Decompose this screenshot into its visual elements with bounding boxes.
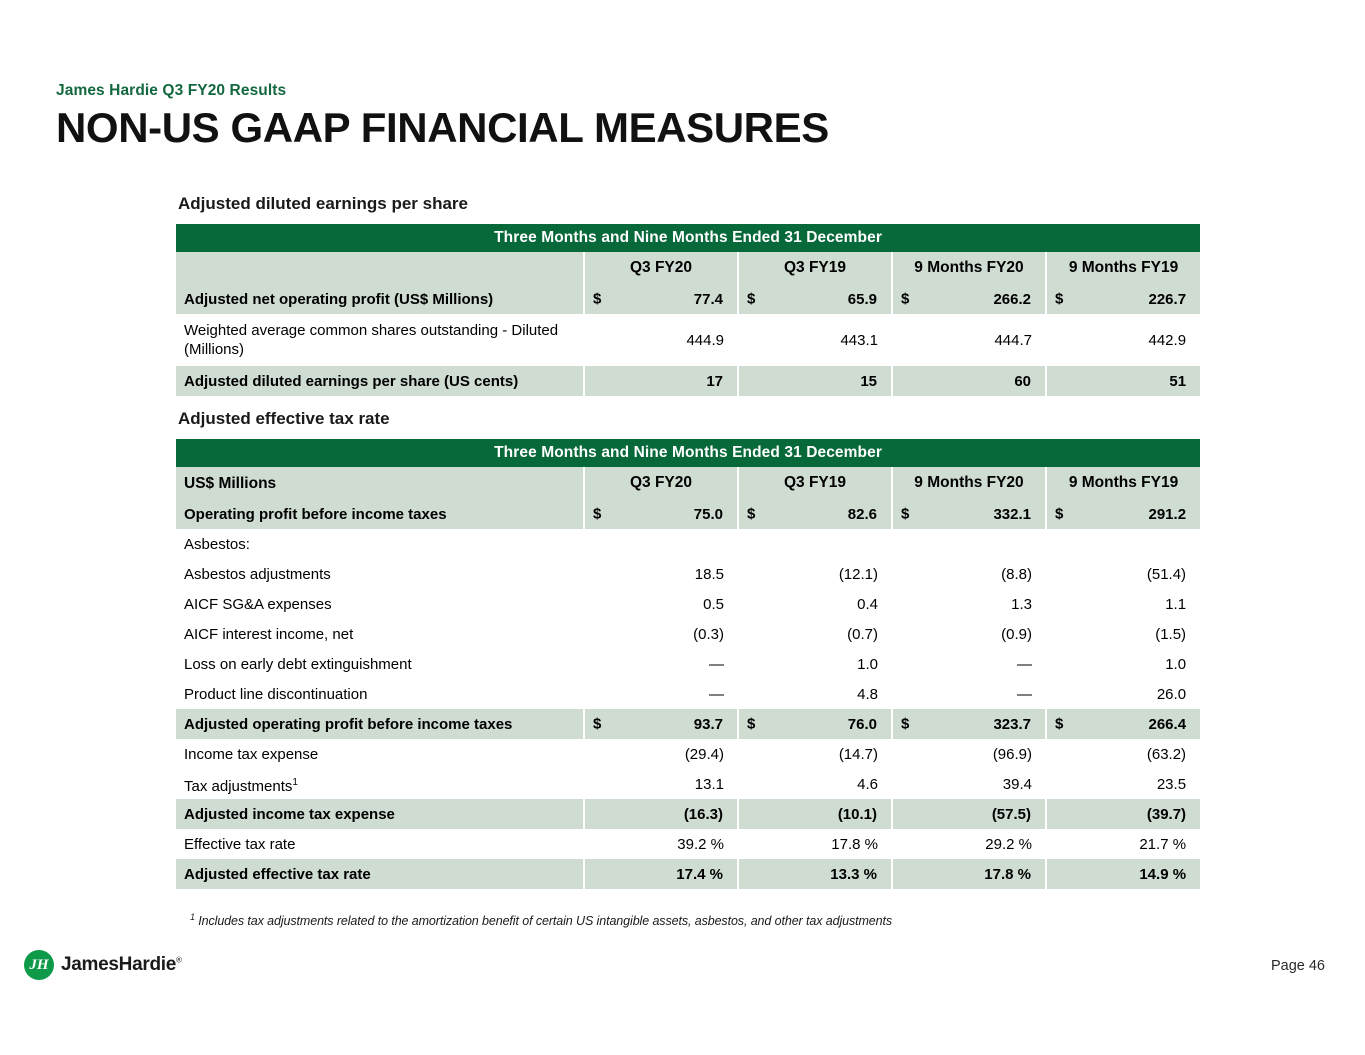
row-value-2: 1.0 — [738, 649, 892, 679]
brand-logo: JH JamesHardie® — [24, 950, 182, 980]
footnote: 1 Includes tax adjustments related to th… — [190, 912, 892, 928]
row-value-3: (96.9) — [892, 739, 1046, 769]
table-banner-row: Three Months and Nine Months Ended 31 De… — [176, 439, 1200, 467]
row-value-1: 17.4 % — [584, 859, 738, 889]
row-value-1: 17 — [584, 366, 738, 396]
currency-symbol: $ — [593, 506, 601, 523]
value-text: (10.1) — [838, 806, 877, 823]
row-label: Asbestos: — [176, 529, 584, 559]
value-text: 444.7 — [994, 332, 1032, 349]
table-row: Asbestos: — [176, 529, 1200, 559]
value-text: 17.8 % — [831, 836, 878, 853]
row-label: Effective tax rate — [176, 829, 584, 859]
row-value-1: 18.5 — [584, 559, 738, 589]
value-text: — — [709, 656, 724, 673]
table-adjusted-effective-tax-rate: Three Months and Nine Months Ended 31 De… — [176, 439, 1200, 889]
value-text: (0.9) — [1001, 626, 1032, 643]
row-label: Weighted average common shares outstandi… — [176, 314, 584, 366]
row-value-4: 23.5 — [1046, 769, 1200, 799]
row-value-1: $77.4 — [584, 284, 738, 314]
value-text: 60 — [1014, 373, 1031, 390]
table-row: Asbestos adjustments18.5(12.1)(8.8)(51.4… — [176, 559, 1200, 589]
value-text: (1.5) — [1155, 626, 1186, 643]
row-label: Adjusted income tax expense — [176, 799, 584, 829]
row-label: Adjusted operating profit before income … — [176, 709, 584, 739]
table-row: Adjusted income tax expense(16.3)(10.1)(… — [176, 799, 1200, 829]
value-text: 332.1 — [993, 506, 1031, 523]
table-banner-row: Three Months and Nine Months Ended 31 De… — [176, 224, 1200, 252]
logo-wordmark-text: JamesHardie — [61, 954, 176, 975]
table-row: AICF interest income, net(0.3)(0.7)(0.9)… — [176, 619, 1200, 649]
page-number: Page 46 — [1271, 958, 1325, 974]
row-value-1: 0.5 — [584, 589, 738, 619]
value-text: (8.8) — [1001, 566, 1032, 583]
row-label: AICF interest income, net — [176, 619, 584, 649]
currency-symbol: $ — [901, 291, 909, 308]
value-text: 291.2 — [1149, 506, 1187, 523]
value-text: 17.4 % — [676, 866, 723, 883]
column-header-2: Q3 FY19 — [738, 467, 892, 499]
row-value-2: (0.7) — [738, 619, 892, 649]
column-header-4: 9 Months FY19 — [1046, 467, 1200, 499]
value-text: 442.9 — [1149, 332, 1187, 349]
value-text: 14.9 % — [1139, 866, 1186, 883]
row-label: Adjusted net operating profit (US$ Milli… — [176, 284, 584, 314]
value-text: 76.0 — [848, 716, 877, 733]
row-value-4: (39.7) — [1046, 799, 1200, 829]
value-text: 226.7 — [1149, 291, 1187, 308]
currency-symbol: $ — [747, 506, 755, 523]
row-label: Adjusted diluted earnings per share (US … — [176, 366, 584, 396]
value-text: 1.3 — [1011, 596, 1032, 613]
value-text: (29.4) — [685, 746, 724, 763]
value-text: (12.1) — [839, 566, 878, 583]
row-value-4: 442.9 — [1046, 314, 1200, 366]
value-text: — — [709, 686, 724, 703]
row-value-2: (12.1) — [738, 559, 892, 589]
row-value-3: $332.1 — [892, 499, 1046, 529]
currency-symbol: $ — [1055, 291, 1063, 308]
row-value-4: (1.5) — [1046, 619, 1200, 649]
column-header-label — [176, 252, 584, 284]
value-text: 17 — [706, 373, 723, 390]
row-value-3: — — [892, 649, 1046, 679]
column-header-1: Q3 FY20 — [584, 252, 738, 284]
row-value-4: 51 — [1046, 366, 1200, 396]
table-row: Adjusted effective tax rate17.4 %13.3 %1… — [176, 859, 1200, 889]
footnote-text: Includes tax adjustments related to the … — [198, 914, 892, 928]
row-value-1: 39.2 % — [584, 829, 738, 859]
row-value-4: (51.4) — [1046, 559, 1200, 589]
table-row: Weighted average common shares outstandi… — [176, 314, 1200, 366]
row-value-1: (16.3) — [584, 799, 738, 829]
row-value-1 — [584, 529, 738, 559]
row-value-4: (63.2) — [1046, 739, 1200, 769]
row-value-1: 13.1 — [584, 769, 738, 799]
column-header-3: 9 Months FY20 — [892, 252, 1046, 284]
value-text: 18.5 — [695, 566, 724, 583]
value-text: — — [1017, 686, 1032, 703]
row-value-4: 26.0 — [1046, 679, 1200, 709]
table-row: Adjusted operating profit before income … — [176, 709, 1200, 739]
row-value-4: 14.9 % — [1046, 859, 1200, 889]
row-value-3: 29.2 % — [892, 829, 1046, 859]
table-row: Effective tax rate39.2 %17.8 %29.2 %21.7… — [176, 829, 1200, 859]
row-value-2: $82.6 — [738, 499, 892, 529]
row-value-3: 39.4 — [892, 769, 1046, 799]
column-header-4: 9 Months FY19 — [1046, 252, 1200, 284]
section-caption-eps: Adjusted diluted earnings per share — [178, 194, 468, 214]
row-value-1: (29.4) — [584, 739, 738, 769]
row-value-1: (0.3) — [584, 619, 738, 649]
row-value-1: — — [584, 679, 738, 709]
row-label: Product line discontinuation — [176, 679, 584, 709]
value-text: 266.4 — [1149, 716, 1187, 733]
currency-symbol: $ — [1055, 506, 1063, 523]
row-value-2: $76.0 — [738, 709, 892, 739]
value-text: 4.6 — [857, 776, 878, 793]
row-value-2 — [738, 529, 892, 559]
row-value-3: 444.7 — [892, 314, 1046, 366]
section-caption-tax: Adjusted effective tax rate — [178, 409, 390, 429]
value-text: 65.9 — [848, 291, 877, 308]
currency-symbol: $ — [593, 716, 601, 733]
row-value-2: 13.3 % — [738, 859, 892, 889]
row-value-1: $93.7 — [584, 709, 738, 739]
value-text: (96.9) — [993, 746, 1032, 763]
row-value-2: 4.8 — [738, 679, 892, 709]
value-text: 21.7 % — [1139, 836, 1186, 853]
value-text: 93.7 — [694, 716, 723, 733]
column-header-1: Q3 FY20 — [584, 467, 738, 499]
row-value-2: $65.9 — [738, 284, 892, 314]
table-row: AICF SG&A expenses0.50.41.31.1 — [176, 589, 1200, 619]
currency-symbol: $ — [1055, 716, 1063, 733]
row-value-2: 17.8 % — [738, 829, 892, 859]
table-column-header-row: Q3 FY20Q3 FY199 Months FY209 Months FY19 — [176, 252, 1200, 284]
value-text: 39.4 — [1003, 776, 1032, 793]
value-text: 323.7 — [993, 716, 1031, 733]
value-text: — — [1017, 656, 1032, 673]
value-text: 15 — [860, 373, 877, 390]
table-adjusted-diluted-eps: Three Months and Nine Months Ended 31 De… — [176, 224, 1200, 396]
row-value-3: 60 — [892, 366, 1046, 396]
james-hardie-logo-icon: JH — [24, 950, 54, 980]
value-text: 29.2 % — [985, 836, 1032, 853]
row-label: AICF SG&A expenses — [176, 589, 584, 619]
row-value-2: (10.1) — [738, 799, 892, 829]
row-value-3: (8.8) — [892, 559, 1046, 589]
value-text: (63.2) — [1147, 746, 1186, 763]
value-text: 0.5 — [703, 596, 724, 613]
value-text: 51 — [1169, 373, 1186, 390]
row-value-1: 444.9 — [584, 314, 738, 366]
value-text: 75.0 — [694, 506, 723, 523]
page-title: NON-US GAAP FINANCIAL MEASURES — [56, 103, 1256, 153]
row-value-2: 4.6 — [738, 769, 892, 799]
value-text: 266.2 — [993, 291, 1031, 308]
row-value-2: 15 — [738, 366, 892, 396]
value-text: 17.8 % — [984, 866, 1031, 883]
value-text: 1.0 — [857, 656, 878, 673]
value-text: (57.5) — [992, 806, 1031, 823]
column-header-3: 9 Months FY20 — [892, 467, 1046, 499]
table-banner-label: Three Months and Nine Months Ended 31 De… — [176, 439, 1200, 467]
row-value-4: $226.7 — [1046, 284, 1200, 314]
row-label: Asbestos adjustments — [176, 559, 584, 589]
currency-symbol: $ — [593, 291, 601, 308]
row-value-3: $266.2 — [892, 284, 1046, 314]
row-label: Tax adjustments1 — [176, 769, 584, 799]
value-text: 443.1 — [840, 332, 878, 349]
row-value-3: (0.9) — [892, 619, 1046, 649]
row-value-2: 443.1 — [738, 314, 892, 366]
row-value-3: (57.5) — [892, 799, 1046, 829]
row-value-2: 0.4 — [738, 589, 892, 619]
value-text: 82.6 — [848, 506, 877, 523]
row-label: Loss on early debt extinguishment — [176, 649, 584, 679]
value-text: (0.7) — [847, 626, 878, 643]
table-column-header-row: US$ MillionsQ3 FY20Q3 FY199 Months FY209… — [176, 467, 1200, 499]
value-text: 39.2 % — [677, 836, 724, 853]
value-text: 1.0 — [1165, 656, 1186, 673]
row-value-4: $266.4 — [1046, 709, 1200, 739]
column-header-2: Q3 FY19 — [738, 252, 892, 284]
slide-header: James Hardie Q3 FY20 Results NON-US GAAP… — [56, 82, 1256, 153]
value-text: (16.3) — [684, 806, 723, 823]
value-text: 26.0 — [1157, 686, 1186, 703]
row-value-2: (14.7) — [738, 739, 892, 769]
row-label: Income tax expense — [176, 739, 584, 769]
value-text: (0.3) — [693, 626, 724, 643]
table-row: Operating profit before income taxes$75.… — [176, 499, 1200, 529]
table-row: Loss on early debt extinguishment—1.0—1.… — [176, 649, 1200, 679]
row-value-3: $323.7 — [892, 709, 1046, 739]
value-text: 23.5 — [1157, 776, 1186, 793]
row-label: Operating profit before income taxes — [176, 499, 584, 529]
currency-symbol: $ — [747, 291, 755, 308]
currency-symbol: $ — [901, 506, 909, 523]
value-text: (39.7) — [1147, 806, 1186, 823]
row-value-4 — [1046, 529, 1200, 559]
value-text: 1.1 — [1165, 596, 1186, 613]
row-value-4: 1.1 — [1046, 589, 1200, 619]
row-value-1: — — [584, 649, 738, 679]
value-text: 444.9 — [686, 332, 724, 349]
value-text: 4.8 — [857, 686, 878, 703]
table-row: Adjusted net operating profit (US$ Milli… — [176, 284, 1200, 314]
logo-wordmark: JamesHardie® — [61, 954, 182, 976]
trademark-icon: ® — [176, 956, 182, 965]
footnote-marker: 1 — [190, 912, 195, 922]
value-text: 13.3 % — [830, 866, 877, 883]
column-header-label: US$ Millions — [176, 467, 584, 499]
row-value-1: $75.0 — [584, 499, 738, 529]
currency-symbol: $ — [901, 716, 909, 733]
value-text: 77.4 — [694, 291, 723, 308]
row-value-4: 1.0 — [1046, 649, 1200, 679]
row-label-superscript: 1 — [292, 777, 298, 788]
value-text: (14.7) — [839, 746, 878, 763]
eyebrow-text: James Hardie Q3 FY20 Results — [56, 82, 1256, 100]
row-value-3: 17.8 % — [892, 859, 1046, 889]
table-row: Income tax expense(29.4)(14.7)(96.9)(63.… — [176, 739, 1200, 769]
row-value-4: $291.2 — [1046, 499, 1200, 529]
row-label: Adjusted effective tax rate — [176, 859, 584, 889]
value-text: 13.1 — [695, 776, 724, 793]
logo-monogram: JH — [29, 957, 48, 974]
value-text: (51.4) — [1147, 566, 1186, 583]
table-row: Product line discontinuation—4.8—26.0 — [176, 679, 1200, 709]
row-value-3 — [892, 529, 1046, 559]
value-text: 0.4 — [857, 596, 878, 613]
currency-symbol: $ — [747, 716, 755, 733]
table-row: Tax adjustments113.14.639.423.5 — [176, 769, 1200, 799]
row-value-3: — — [892, 679, 1046, 709]
row-value-4: 21.7 % — [1046, 829, 1200, 859]
row-value-3: 1.3 — [892, 589, 1046, 619]
table-banner-label: Three Months and Nine Months Ended 31 De… — [176, 224, 1200, 252]
table-row: Adjusted diluted earnings per share (US … — [176, 366, 1200, 396]
